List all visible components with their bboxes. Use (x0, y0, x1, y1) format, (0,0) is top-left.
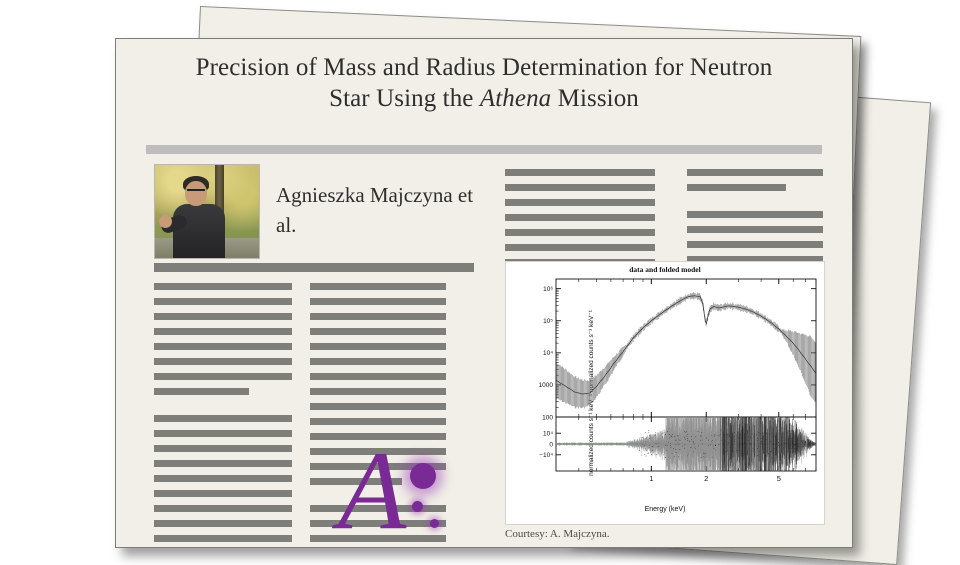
svg-text:100: 100 (542, 414, 553, 421)
body-text-line (154, 445, 292, 452)
body-text-line (154, 343, 292, 350)
svg-text:10⁴: 10⁴ (543, 350, 553, 357)
body-text-line (154, 490, 292, 497)
title-mission-name: Athena (480, 85, 551, 112)
body-text-line (154, 460, 292, 467)
svg-text:−10⁴: −10⁴ (539, 452, 553, 459)
body-text-line (310, 298, 446, 305)
body-text-line (310, 328, 446, 335)
page-title: Precision of Mass and Radius Determinati… (150, 53, 818, 114)
body-text-line (154, 475, 292, 482)
title-line-2-post: Mission (551, 85, 639, 112)
body-text-line (154, 328, 292, 335)
body-text-column-left (154, 283, 292, 548)
photo-person-hand (159, 215, 172, 228)
svg-text:1: 1 (649, 474, 653, 483)
body-text-line (154, 535, 292, 542)
body-text-line (154, 313, 292, 320)
author-photo (154, 164, 260, 259)
title-block: Precision of Mass and Radius Determinati… (116, 39, 852, 114)
body-text-line (154, 388, 249, 395)
body-text-line (310, 388, 446, 395)
author-row: Agnieszka Majczyna et al. (154, 164, 474, 260)
body-text-line (687, 241, 823, 248)
body-text-line (505, 244, 655, 251)
chart-title: data and folded model (506, 265, 824, 274)
chart-plot-area: 10⁶10⁵10⁴100010010⁴0−10⁴125 (520, 275, 820, 503)
author-name: Agnieszka Majczyna et al. (276, 180, 476, 241)
photo-person-body (173, 204, 225, 259)
body-text-line (154, 520, 292, 527)
title-line-1: Precision of Mass and Radius Determinati… (196, 54, 773, 81)
body-text-line (687, 211, 823, 218)
body-text-line (154, 430, 292, 437)
body-text-line (505, 229, 655, 236)
body-text-line (154, 373, 292, 380)
body-text-line (505, 184, 655, 191)
athena-letter-a: A (338, 435, 406, 547)
body-text-line (310, 373, 446, 380)
svg-text:10⁵: 10⁵ (543, 318, 553, 325)
body-text-line (505, 214, 655, 221)
svg-text:1000: 1000 (539, 382, 554, 389)
body-text-line (310, 418, 446, 425)
author-divider (154, 263, 474, 272)
athena-dot-large-icon (410, 463, 436, 489)
athena-dot-medium-icon (412, 501, 423, 512)
title-divider (146, 145, 822, 154)
body-text-line (687, 226, 823, 233)
chart-caption: Courtesy: A. Majczyna. (505, 528, 805, 540)
body-text-line (154, 298, 292, 305)
body-text-line (154, 283, 292, 290)
athena-dot-small-icon (430, 519, 439, 528)
body-text-line (310, 358, 446, 365)
svg-text:10⁶: 10⁶ (543, 286, 553, 293)
chart-x-axis-label: Energy (keV) (506, 506, 824, 513)
svg-text:2: 2 (704, 474, 708, 483)
body-text-line (310, 313, 446, 320)
svg-text:10⁴: 10⁴ (543, 431, 553, 438)
spectrum-chart: data and folded model normalized counts … (505, 261, 825, 525)
screenshot-stage: Precision of Mass and Radius Determinati… (0, 0, 960, 560)
svg-text:5: 5 (777, 474, 781, 483)
body-text-line (505, 169, 655, 176)
svg-text:0: 0 (549, 441, 553, 448)
body-text-line (310, 403, 446, 410)
body-text-line (154, 505, 292, 512)
body-text-line (310, 343, 446, 350)
title-line-2-pre: Star Using the (329, 85, 480, 112)
poster-page: Precision of Mass and Radius Determinati… (115, 38, 853, 548)
athena-logo: A (338, 439, 458, 547)
body-text-line (310, 283, 446, 290)
body-text-line (154, 358, 292, 365)
body-text-line (687, 184, 786, 191)
body-text-line (505, 199, 655, 206)
body-text-line (687, 169, 823, 176)
body-text-line (154, 415, 292, 422)
photo-person-glasses (187, 189, 205, 195)
